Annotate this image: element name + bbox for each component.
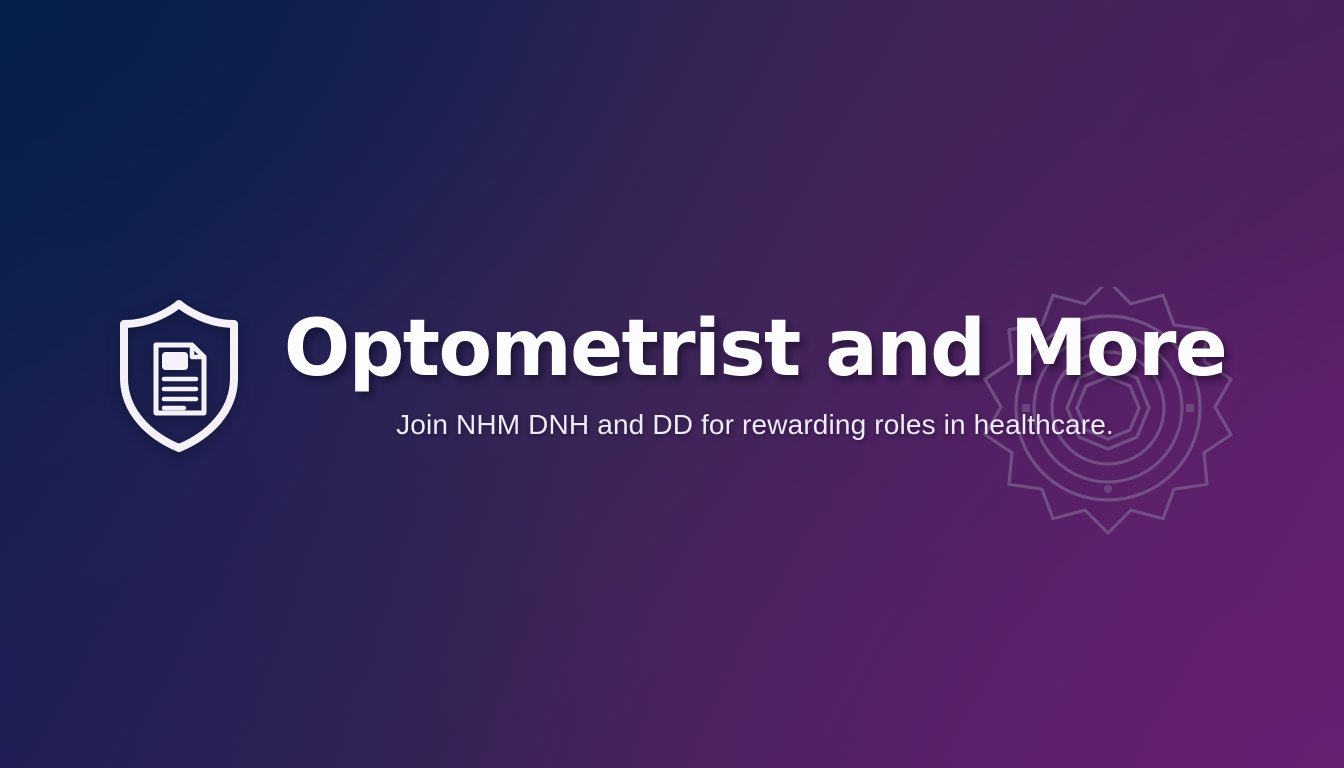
promo-banner: Optometrist and More Join NHM DNH and DD… xyxy=(0,0,1344,768)
banner-content: Optometrist and More Join NHM DNH and DD… xyxy=(0,0,1344,768)
shield-document-icon xyxy=(118,300,240,452)
page-subtitle: Join NHM DNH and DD for rewarding roles … xyxy=(396,408,1114,442)
banner-text-block: Optometrist and More Join NHM DNH and DD… xyxy=(284,310,1226,442)
page-title: Optometrist and More xyxy=(284,310,1226,388)
banner-content-inner: Optometrist and More Join NHM DNH and DD… xyxy=(118,300,1226,452)
